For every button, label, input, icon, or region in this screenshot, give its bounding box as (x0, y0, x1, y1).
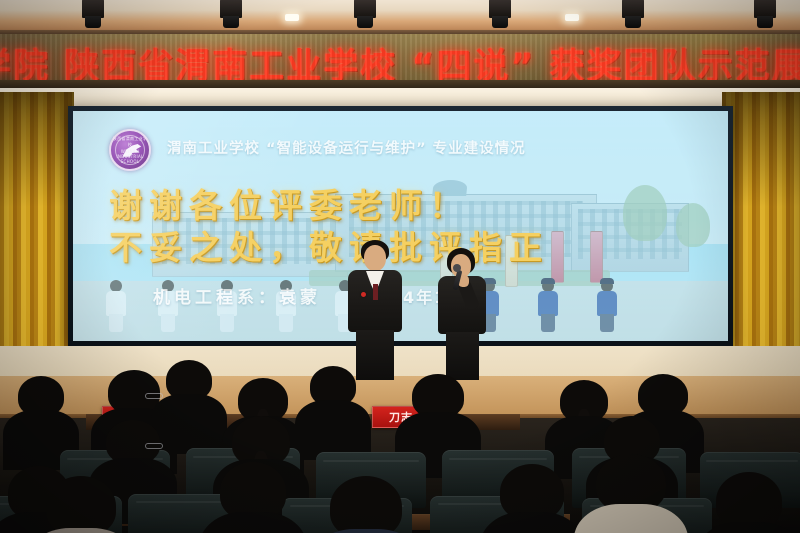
presenter-head (364, 245, 386, 271)
ceiling-downlight-icon (565, 14, 579, 21)
audience-member (232, 416, 290, 466)
audience-member (106, 420, 160, 464)
presenter-tie (373, 284, 378, 300)
slide-headline-1: 谢谢各位评委老师！ (109, 179, 469, 227)
ceiling-spotlight-icon (620, 0, 646, 28)
audience-member (46, 476, 116, 533)
audience-member (220, 462, 286, 520)
audience-member (330, 476, 402, 533)
ceiling (0, 0, 800, 34)
ceiling-spotlight-icon (80, 0, 106, 28)
presenter-lapel-pin-icon (361, 292, 366, 297)
school-crest-icon: 陕西省渭南工业学校 WEINAN INDUSTRIAL SCHOOL (109, 129, 151, 171)
led-banner: 学院 陕西省渭南工业学校 “四说” 获奖团队示范展 (0, 34, 800, 86)
ceiling-spotlight-icon (752, 0, 778, 28)
audience-member (166, 360, 212, 400)
presenter-legs (446, 332, 479, 380)
auditorium-scene: 学院 陕西省渭南工业学校 “四说” 获奖团队示范展 (0, 0, 800, 533)
ceiling-spotlight-icon (218, 0, 244, 28)
audience-member (412, 374, 464, 418)
ceiling-downlight-icon (285, 14, 299, 21)
female-presenter (432, 248, 494, 380)
crest-arc-bottom: WEINAN INDUSTRIAL SCHOOL (111, 149, 149, 164)
stage-wall-upper-trim (0, 88, 800, 106)
microphone-head-icon (453, 264, 461, 272)
presenter-legs (356, 330, 394, 380)
slide-header-text: 渭南工业学校 “智能设备运行与维护” 专业建设情况 (167, 137, 714, 158)
audience-member (108, 370, 160, 414)
audience-area: 教 刀志 罗利军 (0, 418, 800, 533)
curtain-shadow (722, 92, 800, 207)
ceiling-spotlight-icon (487, 0, 513, 28)
slide-presenter-line: 机电工程系：袁蒙 (153, 283, 321, 308)
led-banner-text: 学院 陕西省渭南工业学校 “四说” 获奖团队示范展 (0, 38, 800, 86)
audience-member (716, 472, 782, 530)
audience-member (638, 374, 688, 416)
male-presenter (340, 240, 410, 380)
audience-member (18, 376, 64, 416)
crest-arc-top: 陕西省渭南工业学校 (111, 136, 149, 148)
audience-member (310, 366, 356, 406)
audience-member (500, 464, 564, 520)
audience-member (560, 380, 608, 422)
audience-member (596, 454, 666, 512)
curtain-shadow (0, 92, 74, 207)
ceiling-spotlight-icon (352, 0, 378, 28)
